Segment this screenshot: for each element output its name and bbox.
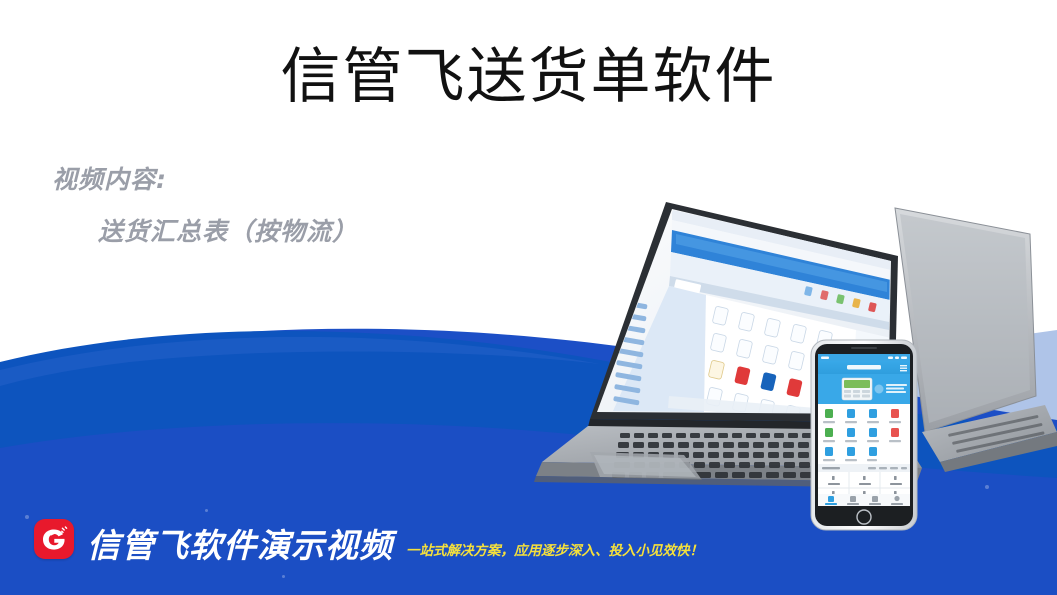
decor-dot — [205, 509, 208, 512]
video-content-item: 送货汇总表（按物流） — [52, 212, 358, 248]
laptop-rear-view — [895, 208, 1057, 472]
presentation-slide: 信管飞送货单软件 视频内容: 送货汇总表（按物流） — [0, 0, 1057, 595]
xinguanfei-bird-logo-icon — [34, 519, 74, 559]
smartphone-with-mobile-app — [811, 340, 917, 530]
banner-tagline: 一站式解决方案，应用逐步深入、投入小见效快！ — [406, 545, 703, 559]
banner-brand-text: 信管飞软件演示视频 — [87, 529, 393, 562]
video-content-block: 视频内容: 送货汇总表（按物流） — [52, 160, 358, 248]
video-content-label: 视频内容: — [52, 160, 358, 196]
decor-dot — [25, 515, 29, 519]
bottom-banner: 信管飞软件演示视频 一站式解决方案，应用逐步深入、投入小见效快！ — [0, 503, 1057, 595]
devices-illustration — [470, 200, 1057, 540]
slide-title: 信管飞送货单软件 — [0, 44, 1057, 110]
decor-dot — [282, 575, 285, 578]
banner-brand-group: 信管飞软件演示视频 一站式解决方案，应用逐步深入、投入小见效快！ — [34, 519, 703, 559]
decor-dot — [985, 485, 989, 489]
